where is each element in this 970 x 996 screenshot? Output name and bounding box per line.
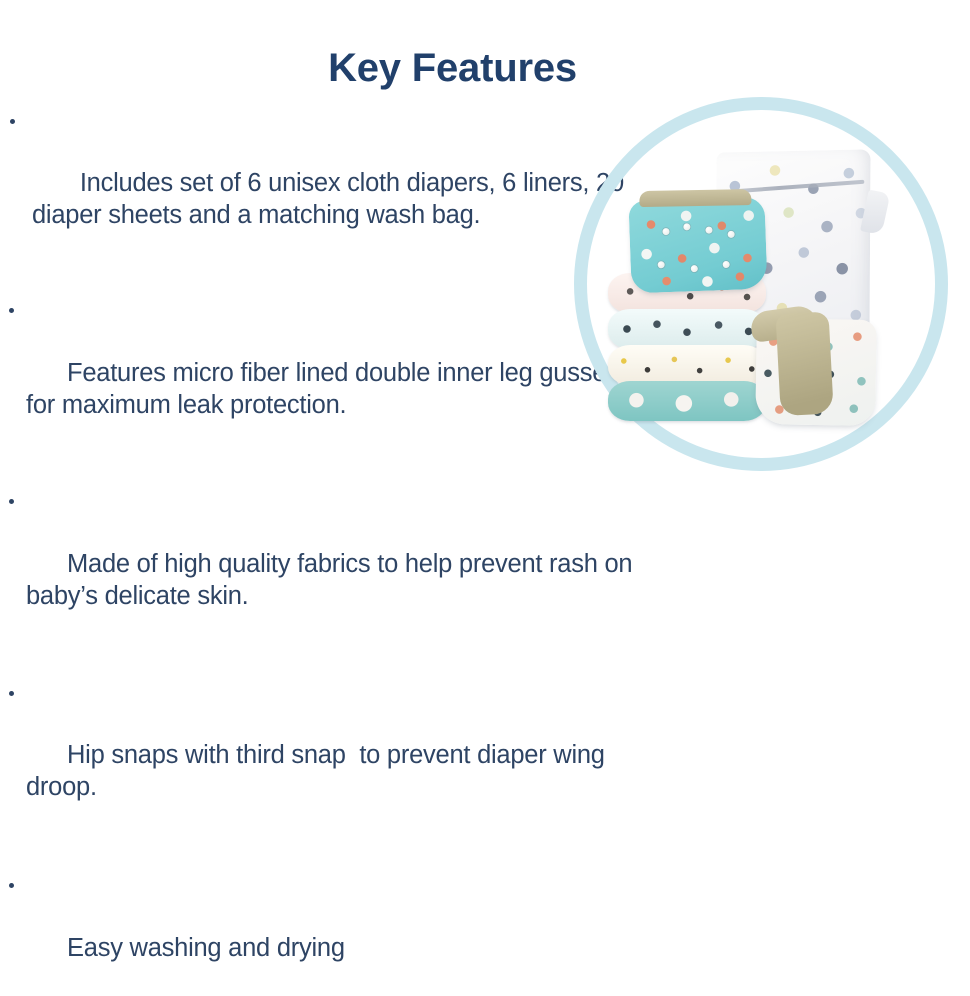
features-list: Includes set of 6 unisex cloth diapers, … [6, 103, 634, 996]
product-photo [598, 123, 928, 453]
product-figure [574, 97, 948, 471]
snap-icon [662, 228, 669, 235]
snap-icon [658, 261, 665, 268]
snap-icon [723, 260, 730, 267]
rainbow-diaper-liner [639, 189, 751, 207]
list-item: Made of high quality fabrics to help pre… [6, 483, 634, 644]
snap-icon [727, 231, 734, 238]
mermaid-diaper-liner [775, 311, 833, 415]
mermaid-diaper [755, 318, 877, 426]
slide-canvas: Key Features Includes set of 6 unisex cl… [0, 0, 970, 600]
wash-bag-strap [860, 190, 890, 235]
list-item-text: Made of high quality fabrics to help pre… [26, 550, 639, 610]
list-item: Features micro fiber lined double inner … [6, 293, 634, 454]
page-title: Key Features [0, 45, 905, 91]
list-item: Includes set of 6 unisex cloth diapers, … [6, 103, 634, 264]
bullet-dot-icon [9, 499, 14, 504]
bullet-dot-icon [10, 119, 15, 124]
list-item-text: Hip snaps with third snap to prevent dia… [26, 741, 612, 801]
rainbow-diaper [628, 197, 767, 294]
folded-diaper-crowns [608, 309, 766, 349]
list-item-text: Features micro fiber lined double inner … [26, 359, 632, 419]
snap-icon [706, 226, 713, 233]
list-item: Easy washing and drying [6, 868, 634, 996]
snap-icon [684, 223, 691, 230]
bullet-dot-icon [9, 883, 14, 888]
folded-diaper-swans [608, 381, 766, 421]
folded-diaper-stack [608, 273, 768, 421]
list-item-text: Includes set of 6 unisex cloth diapers, … [32, 169, 631, 229]
bullet-dot-icon [9, 308, 14, 313]
bullet-dot-icon [9, 691, 14, 696]
list-item: Hip snaps with third snap to prevent dia… [6, 675, 634, 836]
snap-icon [691, 265, 698, 272]
list-item-text: Easy washing and drying [67, 934, 345, 962]
folded-diaper-feathers [608, 345, 766, 385]
